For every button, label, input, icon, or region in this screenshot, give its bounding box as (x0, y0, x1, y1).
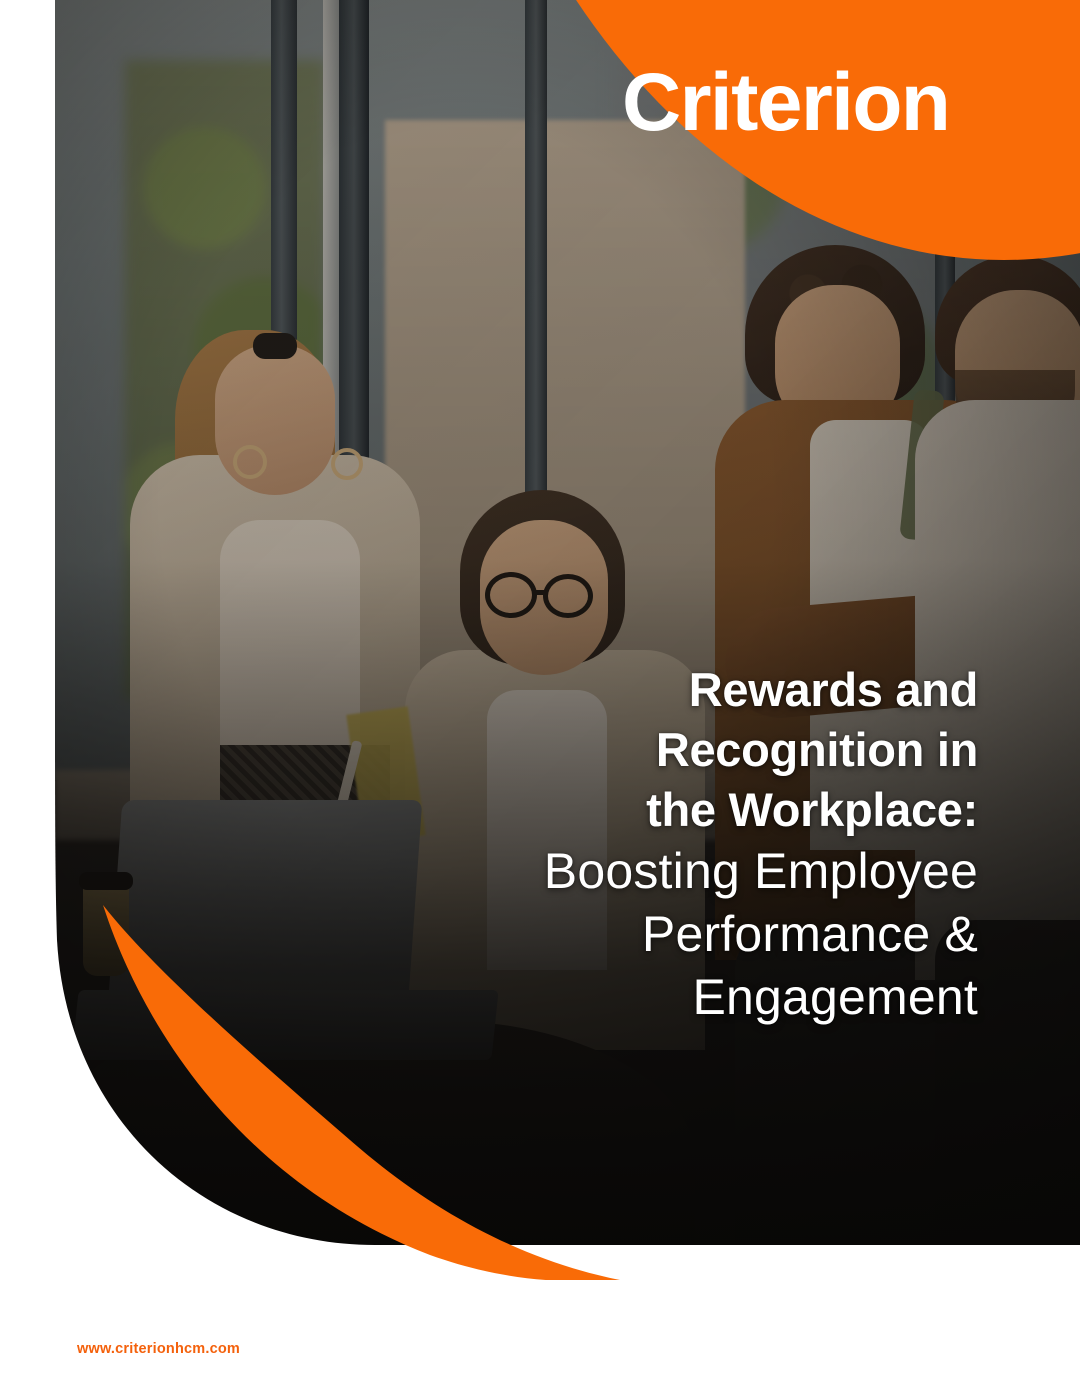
subtitle-line-1: Boosting Employee (418, 840, 978, 903)
subtitle-line-2: Performance & (418, 903, 978, 966)
brand-logo[interactable]: Criterion (622, 62, 949, 144)
title-line-2: Recognition in (418, 720, 978, 780)
subtitle-line-3: Engagement (418, 966, 978, 1029)
title-line-3: the Workplace: (418, 780, 978, 840)
page-title: Rewards and Recognition in the Workplace… (418, 660, 978, 1029)
website-link[interactable]: www.criterionhcm.com (77, 1341, 240, 1357)
title-line-1: Rewards and (418, 660, 978, 720)
cover-page: Criterion Rewards and Recognition in the… (0, 0, 1080, 1398)
